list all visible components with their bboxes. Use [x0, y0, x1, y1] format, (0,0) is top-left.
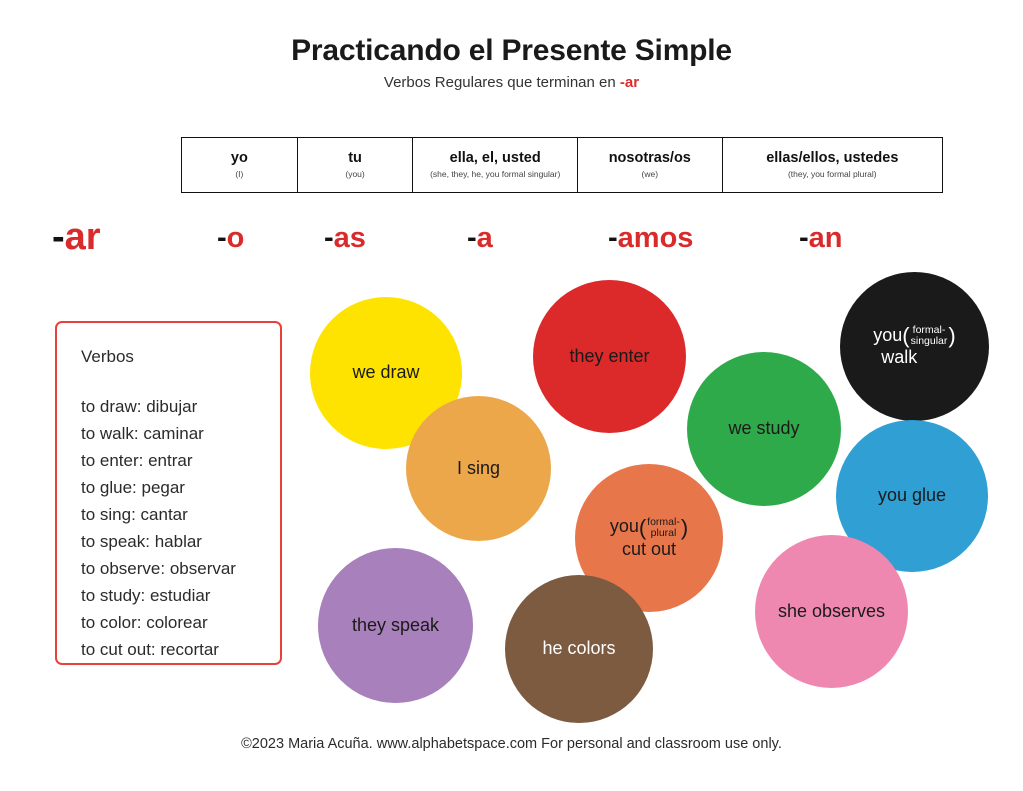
paren-close: ) [681, 517, 688, 539]
circle-you-cut-out-line2: cut out [610, 539, 688, 560]
page-title: Practicando el Presente Simple [0, 34, 1023, 68]
verb-item: to enter: entrar [81, 447, 280, 474]
verb-item: to walk: caminar [81, 420, 280, 447]
verb-item: to study: estudiar [81, 582, 280, 609]
worksheet-page: Practicando el Presente Simple Verbos Re… [0, 0, 1023, 791]
ending-an-dash: - [799, 222, 809, 254]
verb-item: to observe: observar [81, 555, 280, 582]
circle-label-we-study: we study [720, 418, 807, 439]
verb-item: to cut out: recortar [81, 636, 280, 663]
pronoun-ella-el-usted: ella, el, usted [450, 150, 541, 167]
pronoun-table: yo (I) tu (you) ella, el, usted (she, th… [181, 137, 943, 193]
paren-open: ( [902, 325, 909, 347]
ending-a: -a [467, 224, 493, 253]
subtitle-ending: -ar [620, 74, 639, 91]
verbs-box-title: Verbos [81, 347, 280, 367]
ending-as-dash: - [324, 222, 334, 254]
verb-item: to color: colorear [81, 609, 280, 636]
verbs-box: Verbos to draw: dibujar to walk: caminar… [55, 321, 282, 665]
verb-item: to sing: cantar [81, 501, 280, 528]
circle-label-they-speak: they speak [344, 615, 447, 636]
circle-label-you-glue: you glue [870, 485, 954, 506]
pronoun-nosotras-os: nosotras/os [609, 150, 691, 167]
circle-you-cut-out-qualifier: (formal-plural) [639, 517, 688, 539]
verb-item: to glue: pegar [81, 474, 280, 501]
pronoun-cell-ellas-ellos-ustedes: ellas/ellos, ustedes (they, you formal p… [723, 138, 942, 192]
circle-label-you-cut-out: you(formal-plural) cut out [602, 516, 696, 559]
circle-we-study: we study [687, 352, 841, 506]
pronoun-cell-yo: yo (I) [182, 138, 298, 192]
circle-label-they-enter: they enter [561, 346, 657, 367]
pronoun-cell-ella-el-usted: ella, el, usted (she, they, he, you form… [413, 138, 578, 192]
verb-item: to draw: dibujar [81, 393, 280, 420]
circle-he-colors: he colors [505, 575, 653, 723]
pronoun-ella-el-usted-translation: (she, they, he, you formal singular) [430, 170, 560, 179]
paren-close: ) [948, 325, 955, 347]
ending-a-dash: - [467, 222, 477, 254]
circle-you-walk-line1: you [873, 325, 902, 345]
circle-you-cut-out-paren-top: formal- [647, 517, 680, 528]
pronoun-cell-tu: tu (you) [298, 138, 414, 192]
footer-copyright: ©2023 Maria Acuña. www.alphabetspace.com… [0, 736, 1023, 752]
circle-you-walk-paren-bottom: singular [911, 336, 948, 347]
circle-you-cut-out-paren-bottom: plural [647, 528, 680, 539]
circle-you-walk: you(formal-singular) walk [840, 272, 989, 421]
ending-ar-dash: - [52, 216, 65, 258]
subtitle-prefix: Verbos Regulares que terminan en [384, 74, 620, 91]
verb-item: to speak: hablar [81, 528, 280, 555]
circle-i-sing: I sing [406, 396, 551, 541]
ending-an: -an [799, 224, 843, 253]
ending-amos: -amos [608, 224, 693, 253]
pronoun-ellas-ellos-ustedes: ellas/ellos, ustedes [766, 150, 898, 167]
pronoun-ellas-ellos-ustedes-translation: (they, you formal plural) [788, 170, 877, 179]
ending-o-text: o [227, 222, 245, 254]
ending-a-text: a [477, 222, 493, 254]
page-subtitle: Verbos Regulares que terminan en -ar [0, 74, 1023, 91]
ending-an-text: an [809, 222, 843, 254]
circle-you-walk-qualifier: (formal-singular) [902, 325, 955, 347]
pronoun-nosotras-os-translation: (we) [642, 170, 659, 179]
ending-ar: -ar [52, 218, 101, 256]
ending-ar-text: ar [65, 216, 101, 258]
pronoun-yo-translation: (I) [235, 170, 243, 179]
circle-label-you-walk: you(formal-singular) walk [865, 325, 963, 368]
ending-amos-text: amos [618, 222, 694, 254]
circle-she-observes: she observes [755, 535, 908, 688]
ending-as-text: as [334, 222, 366, 254]
circle-label-he-colors: he colors [534, 638, 623, 659]
ending-amos-dash: - [608, 222, 618, 254]
circle-they-enter: they enter [533, 280, 686, 433]
pronoun-cell-nosotras-os: nosotras/os (we) [578, 138, 723, 192]
circle-they-speak: they speak [318, 548, 473, 703]
circle-you-cut-out-line1: you [610, 516, 639, 536]
paren-open: ( [639, 517, 646, 539]
circle-label-we-draw: we draw [344, 362, 427, 383]
pronoun-yo: yo [231, 150, 248, 167]
ending-as: -as [324, 224, 366, 253]
ending-o-dash: - [217, 222, 227, 254]
ending-o: -o [217, 224, 244, 253]
pronoun-tu: tu [348, 150, 362, 167]
circle-label-i-sing: I sing [449, 458, 508, 479]
circle-you-walk-line2: walk [873, 347, 955, 368]
circle-label-she-observes: she observes [770, 601, 893, 622]
pronoun-tu-translation: (you) [345, 170, 364, 179]
